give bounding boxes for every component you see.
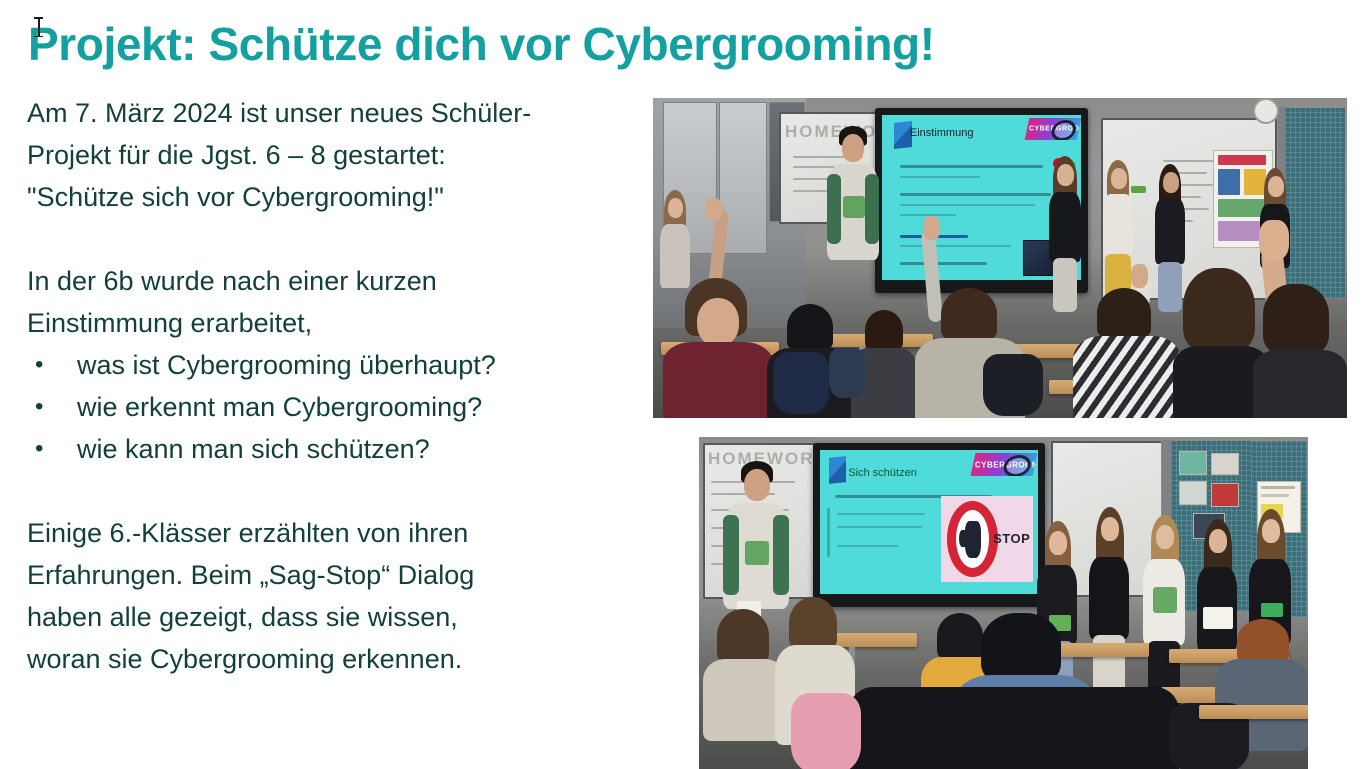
wall-clock bbox=[1253, 98, 1279, 124]
paper-sheet bbox=[1261, 603, 1283, 617]
backpack bbox=[791, 693, 861, 769]
closing-paragraph: Einige 6.-Klässer erzählten von ihren Er… bbox=[27, 512, 637, 680]
class-line-1: In der 6b wurde nach einer kurzen bbox=[27, 260, 637, 302]
closing-line-4: woran sie Cybergrooming erkennen. bbox=[27, 638, 637, 680]
list-item: • wie kann man sich schützen? bbox=[27, 428, 637, 470]
photo-classroom-sich-schuetzen: HOMEWORK Sich schützen CYBERGROOMING bbox=[699, 437, 1308, 769]
closing-line-1: Einige 6.-Klässer erzählten von ihren bbox=[27, 512, 637, 554]
stop-sign-icon bbox=[947, 501, 998, 577]
raised-hand bbox=[923, 216, 940, 240]
magnifier-icon bbox=[1002, 455, 1034, 476]
bullet-marker: • bbox=[35, 428, 43, 470]
bullet-label: wie kann man sich schützen? bbox=[77, 434, 430, 464]
interactive-display: Sich schützen CYBERGROOMING STOP bbox=[813, 443, 1045, 607]
stop-sign-graphic: STOP bbox=[941, 496, 1033, 582]
question-bullet-list: • was ist Cybergrooming überhaupt? • wie… bbox=[27, 344, 637, 470]
slide-heading: Einstimmung bbox=[910, 127, 974, 139]
pinned-card bbox=[1211, 453, 1239, 475]
intro-paragraph: Am 7. März 2024 ist unser neues Schüler-… bbox=[27, 92, 637, 218]
presentation-slide: Projekt: Schütze dich vor Cybergrooming!… bbox=[0, 0, 1364, 769]
pinned-card bbox=[1211, 483, 1239, 507]
photo-classroom-einstimmung: HOMEWORK Einstimmung CYBERGROOMING bbox=[653, 98, 1347, 418]
class-paragraph: In der 6b wurde nach einer kurzen Einsti… bbox=[27, 260, 637, 344]
student-desk bbox=[1199, 705, 1308, 719]
school-logo-icon bbox=[829, 456, 846, 484]
hoodie-sleeve bbox=[723, 515, 739, 595]
presentation-screen: Sich schützen CYBERGROOMING STOP bbox=[820, 450, 1038, 594]
pinboard bbox=[1285, 108, 1345, 298]
shirt-logo bbox=[1153, 587, 1177, 613]
closing-line-2: Erfahrungen. Beim „Sag-Stop“ Dialog bbox=[27, 554, 637, 596]
cybergrooming-logo: CYBERGROOMING bbox=[971, 453, 1038, 476]
seated-student bbox=[1073, 288, 1181, 418]
bullet-marker: • bbox=[35, 344, 43, 386]
stop-label: STOP bbox=[993, 531, 1030, 546]
intro-line-3: "Schütze sich vor Cybergrooming!" bbox=[27, 176, 637, 218]
bullet-marker: • bbox=[35, 386, 43, 428]
slide-heading: Sich schützen bbox=[848, 467, 916, 479]
hoodie-sleeve bbox=[773, 515, 789, 595]
hoodie-sleeve bbox=[865, 174, 879, 244]
foreground-student bbox=[849, 687, 1179, 769]
seated-student bbox=[663, 278, 773, 418]
intro-line-2: Projekt für die Jgst. 6 – 8 gestartet: bbox=[27, 134, 637, 176]
hoodie-sleeve bbox=[827, 174, 841, 244]
page-title: Projekt: Schütze dich vor Cybergrooming! bbox=[28, 16, 1228, 72]
intro-line-1: Am 7. März 2024 ist unser neues Schüler- bbox=[27, 92, 637, 134]
bullet-label: was ist Cybergrooming überhaupt? bbox=[77, 350, 496, 380]
list-item: • was ist Cybergrooming überhaupt? bbox=[27, 344, 637, 386]
presenter bbox=[823, 126, 883, 316]
paragraph-spacer-2 bbox=[27, 470, 637, 512]
pinned-card bbox=[1179, 451, 1207, 475]
seated-student bbox=[1253, 284, 1347, 418]
raised-hand bbox=[1259, 220, 1289, 260]
raised-hand bbox=[705, 198, 722, 220]
magnifier-icon bbox=[1050, 120, 1078, 140]
shirt-logo bbox=[843, 196, 865, 218]
pinned-card bbox=[1179, 481, 1207, 505]
raised-hand bbox=[1131, 264, 1148, 288]
backpack bbox=[829, 348, 865, 398]
cybergrooming-logo: CYBERGROOMING bbox=[1025, 118, 1081, 140]
backpack bbox=[983, 354, 1043, 416]
closing-line-3: haben alle gezeigt, dass sie wissen, bbox=[27, 596, 637, 638]
class-line-2: Einstimmung erarbeitet, bbox=[27, 302, 637, 344]
slide-text-column: Am 7. März 2024 ist unser neues Schüler-… bbox=[27, 92, 637, 680]
paragraph-spacer-1 bbox=[27, 218, 637, 260]
shirt-logo bbox=[745, 541, 769, 565]
list-item: • wie erkennt man Cybergrooming? bbox=[27, 386, 637, 428]
bullet-label: wie erkennt man Cybergrooming? bbox=[77, 392, 482, 422]
hand-icon bbox=[965, 521, 981, 558]
backpack bbox=[773, 352, 829, 414]
